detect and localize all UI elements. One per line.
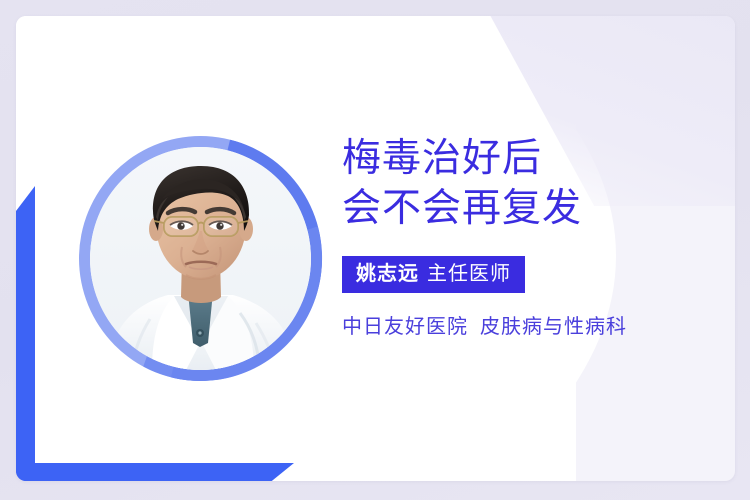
doctor-name-badge: 姚志远主任医师 [342, 256, 525, 293]
left-accent-bar [16, 186, 35, 481]
headline-line-1: 梅毒治好后 [342, 134, 722, 184]
doctor-title: 主任医师 [427, 263, 511, 285]
doctor-photo-illustration [90, 147, 311, 370]
doctor-affiliation: 中日友好医院皮肤病与性病科 [342, 314, 722, 340]
doctor-portrait [79, 136, 322, 381]
promo-card-stage: 梅毒治好后 会不会再复发 姚志远主任医师 中日友好医院皮肤病与性病科 [0, 0, 750, 500]
bottom-accent-bar [16, 463, 294, 481]
department-name: 皮肤病与性病科 [480, 316, 627, 338]
headline-line-2: 会不会再复发 [342, 184, 722, 234]
text-column: 梅毒治好后 会不会再复发 姚志远主任医师 中日友好医院皮肤病与性病科 [342, 134, 722, 340]
doctor-name: 姚志远 [356, 263, 419, 285]
content-card: 梅毒治好后 会不会再复发 姚志远主任医师 中日友好医院皮肤病与性病科 [16, 16, 735, 481]
portrait-photo-frame [90, 147, 311, 370]
hospital-name: 中日友好医院 [342, 316, 468, 338]
